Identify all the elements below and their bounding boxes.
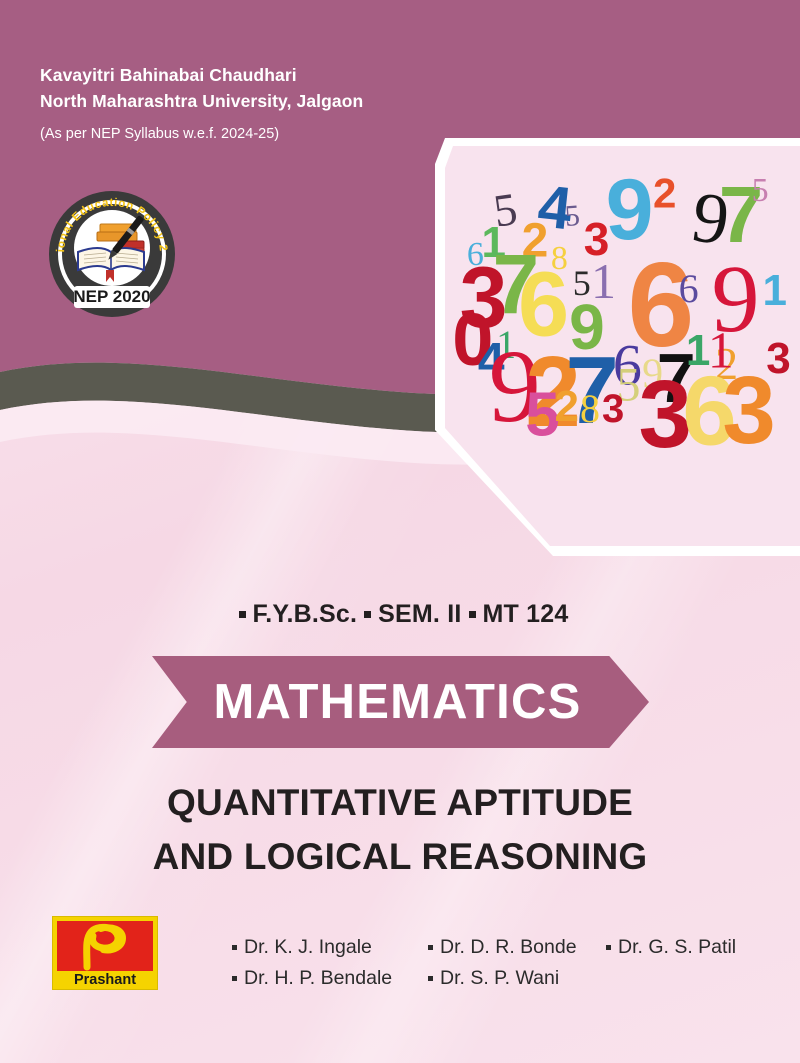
course-item-1: SEM. II [378, 600, 461, 628]
author-item: Dr. S. P. Wani [428, 963, 559, 994]
course-item-0: F.Y.B.Sc. [253, 600, 358, 628]
bullet-square-icon [239, 611, 246, 618]
collage-digit: 2 [555, 382, 579, 431]
author-name: Dr. G. S. Patil [618, 936, 736, 958]
authors-row-0: Dr. K. J. IngaleDr. D. R. BondeDr. G. S.… [232, 932, 772, 963]
authors-list: Dr. K. J. IngaleDr. D. R. BondeDr. G. S.… [232, 932, 772, 994]
bullet-square-icon [364, 611, 371, 618]
collage-digit: 3 [722, 357, 775, 464]
subject-ribbon: MATHEMATICS [152, 656, 649, 748]
author-name: Dr. K. J. Ingale [244, 936, 372, 958]
university-header: Kavayitri Bahinabai Chaudhari North Maha… [40, 62, 363, 145]
university-line-1: Kavayitri Bahinabai Chaudhari [40, 62, 363, 88]
bullet-square-icon [232, 945, 237, 950]
publisher-name: Prashant [57, 972, 153, 988]
author-item: Dr. H. P. Bendale [232, 963, 428, 994]
collage-digit: 2 [653, 170, 676, 217]
bullet-square-icon [428, 976, 433, 981]
cover-art-numbers-hexagon: 5459297516238376516691094192765971213528… [345, 128, 800, 568]
subtitle-line-2: AND LOGICAL REASONING [0, 830, 800, 884]
collage-digit: 5 [564, 199, 581, 233]
author-item: Dr. D. R. Bonde [428, 932, 606, 963]
subject-title: MATHEMATICS [152, 656, 649, 748]
collage-digit: 5 [752, 172, 769, 209]
author-item: Dr. K. J. Ingale [232, 932, 428, 963]
nep-badge-label: NEP 2020 [73, 287, 150, 306]
author-name: Dr. H. P. Bendale [244, 967, 392, 989]
collage-digit: 8 [580, 386, 600, 431]
syllabus-note: (As per NEP Syllabus w.e.f. 2024-25) [40, 123, 363, 145]
collage-digit: 6 [679, 266, 699, 311]
bullet-square-icon [428, 945, 433, 950]
hexagon-art-area: 5459297516238376516691094192765971213528… [445, 146, 800, 546]
publisher-logo: Prashant [52, 916, 158, 990]
collage-digit: 3 [602, 387, 624, 431]
publisher-monogram-panel [57, 921, 153, 971]
author-item: Dr. G. S. Patil [606, 932, 736, 963]
bullet-square-icon [606, 945, 611, 950]
course-item-2: MT 124 [483, 600, 569, 628]
bullet-square-icon [469, 611, 476, 618]
book-cover: Kavayitri Bahinabai Chaudhari North Maha… [0, 0, 800, 1063]
bullet-square-icon [232, 976, 237, 981]
book-subtitle: QUANTITATIVE APTITUDE AND LOGICAL REASON… [0, 776, 800, 884]
university-line-2: North Maharashtra University, Jalgaon [40, 88, 363, 114]
nep-2020-seal-logo: National Education Policy 2020 NEP 2020 [48, 190, 176, 318]
authors-row-1: Dr. H. P. BendaleDr. S. P. Wani [232, 963, 772, 994]
collage-digit: 1 [763, 266, 787, 315]
course-line: F.Y.B.Sc.SEM. IIMT 124 [0, 600, 800, 629]
author-name: Dr. D. R. Bonde [440, 936, 577, 958]
subtitle-line-1: QUANTITATIVE APTITUDE [0, 776, 800, 830]
author-name: Dr. S. P. Wani [440, 967, 559, 989]
prashant-p-monogram-icon [57, 921, 153, 971]
